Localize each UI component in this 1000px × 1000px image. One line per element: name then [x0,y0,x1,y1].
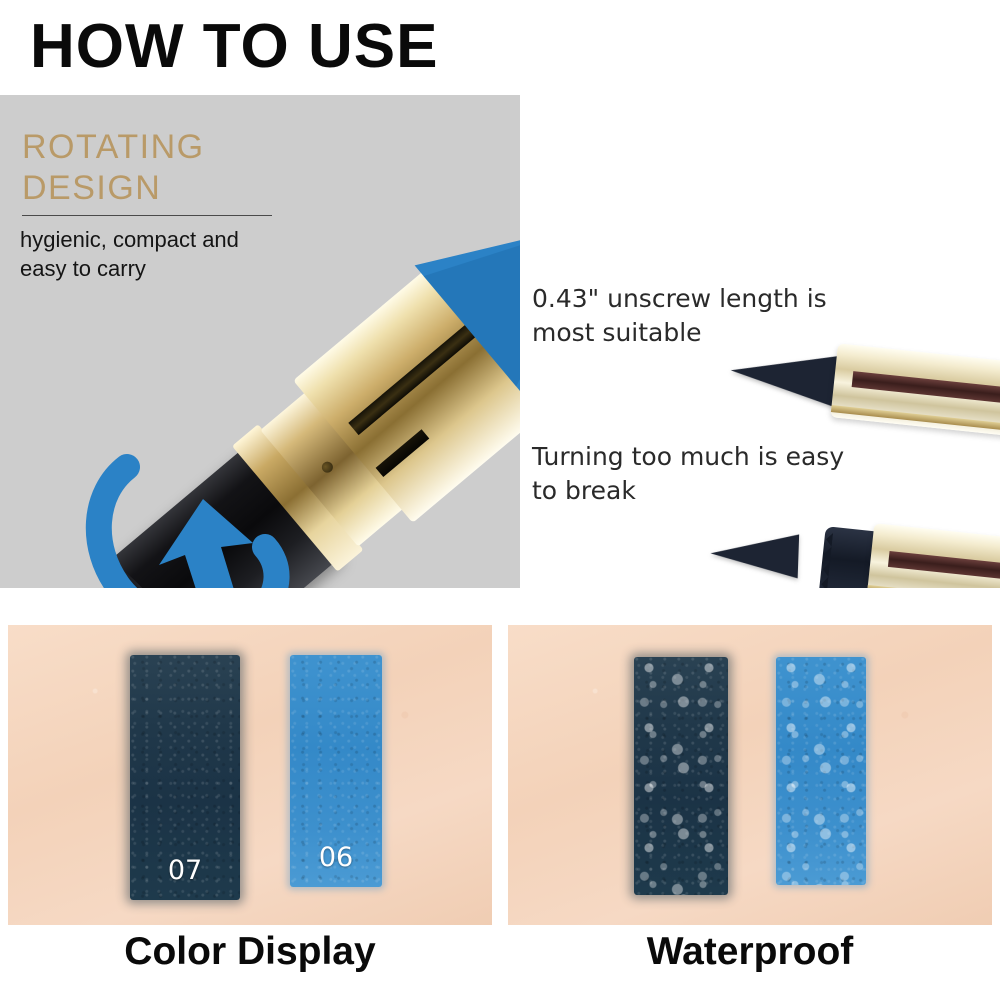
rotating-design-panel: ROTATING DESIGN hygienic, compact and ea… [0,95,520,588]
skin-texture [508,625,992,925]
waterproof-photo [508,625,992,925]
waterproof-caption: Waterproof [508,930,992,986]
eyeliner-pencil-broken-icon [705,489,1000,588]
water-droplets-overlay [776,657,866,885]
skin-texture [8,625,492,925]
swatch-waterproof-blue [776,657,866,885]
pencil-broken-fragment [710,531,799,578]
swatch-label-07: 07 [130,855,240,886]
feature-title-line2: DESIGN [22,169,161,207]
infographic-root: HOW TO USE ROTATING DESIGN hygienic, com… [0,0,1000,1000]
color-display-photo: 07 06 [8,625,492,925]
water-droplets-overlay [634,657,728,895]
swatch-06: 06 [290,655,382,887]
color-display-caption: Color Display [8,930,492,986]
swatch-label-06: 06 [290,842,382,873]
pencil-intact-gold-body [830,343,1000,439]
instructions-panel: 0.43" unscrew length is most suitable Tu… [520,250,1000,588]
eyeliner-pencil-intact-icon [725,315,1000,456]
rotate-arrow-icon [75,415,305,588]
pencil-intact-tip [728,344,841,407]
feature-title-line1: ROTATING [22,128,205,166]
pencil-broken-gold-body [867,523,1000,588]
swatch-07: 07 [130,655,240,900]
page-title: HOW TO USE [30,12,438,82]
swatch-waterproof-dark [634,657,728,895]
